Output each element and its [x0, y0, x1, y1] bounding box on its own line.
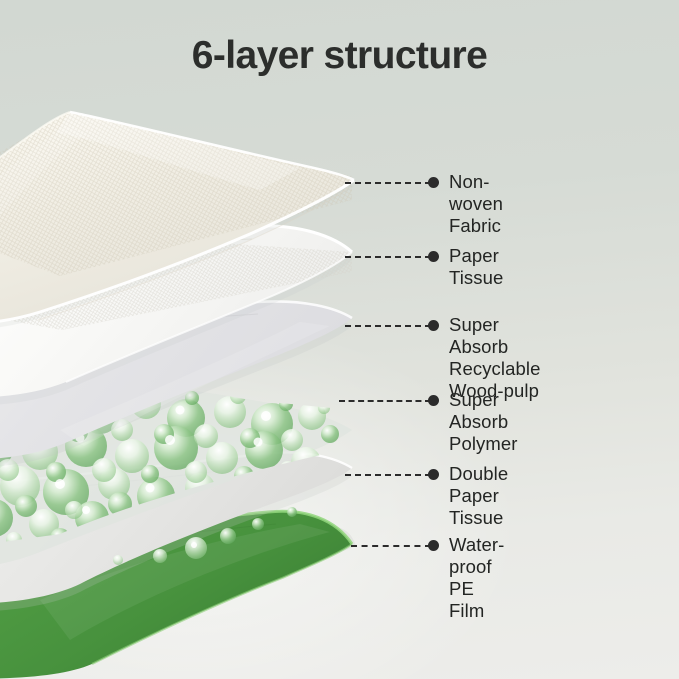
- callout-dot-super-absorb-recyclable-wood-pulp: [428, 320, 439, 331]
- callout-dot-water-proof-pe-film: [428, 540, 439, 551]
- callout-label-non-woven-fabric: Non-woven Fabric: [449, 171, 503, 237]
- callout-dot-super-absorb-polymer: [428, 395, 439, 406]
- leader-line-non-woven-fabric: [345, 182, 431, 184]
- callout-dot-double-paper-tissue: [428, 469, 439, 480]
- leader-line-double-paper-tissue: [345, 474, 431, 476]
- layer-stack-illustration: [0, 0, 679, 679]
- callout-label-super-absorb-polymer: Super Absorb Polymer: [449, 389, 518, 455]
- page-title: 6-layer structure: [0, 34, 679, 78]
- leader-line-paper-tissue: [345, 256, 431, 258]
- leader-line-super-absorb-recyclable-wood-pulp: [345, 325, 431, 327]
- callout-label-double-paper-tissue: Double Paper Tissue: [449, 463, 508, 529]
- callout-dot-non-woven-fabric: [428, 177, 439, 188]
- callout-dot-paper-tissue: [428, 251, 439, 262]
- callout-label-water-proof-pe-film: Water-proof PE Film: [449, 534, 504, 622]
- product-layer-infographic: 6-layer structure Non-woven FabricPaper …: [0, 0, 679, 679]
- leader-line-water-proof-pe-film: [351, 545, 431, 547]
- leader-line-super-absorb-polymer: [339, 400, 431, 402]
- callout-label-paper-tissue: Paper Tissue: [449, 245, 503, 289]
